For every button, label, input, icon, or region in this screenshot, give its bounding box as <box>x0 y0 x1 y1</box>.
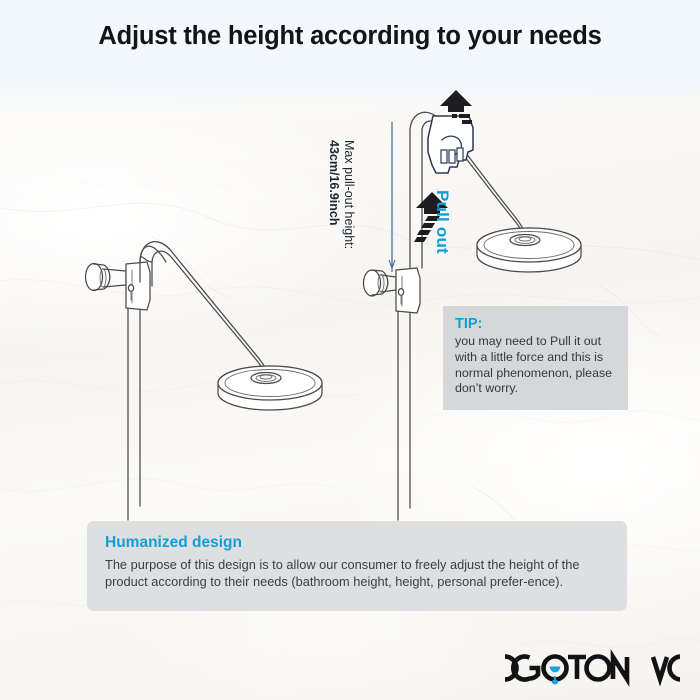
infographic-canvas: Adjust the height according to your need… <box>0 0 700 700</box>
tip-callout: TIP: you may need to Pull it out with a … <box>443 306 628 410</box>
max-pullout-dimension-label: Max pull-out height: 43cm/16.9inch <box>327 140 357 249</box>
tip-body: you may need to Pull it out with a littl… <box>455 334 616 397</box>
humanized-design-heading: Humanized design <box>105 534 609 552</box>
tip-heading: TIP: <box>455 316 616 332</box>
dimension-label-line2: 43cm/16.9inch <box>327 140 342 249</box>
dimension-label-line1: Max pull-out height: <box>341 140 356 249</box>
shower-retracted-group <box>86 242 323 520</box>
hand-grip-icon <box>428 116 473 173</box>
dimension-leader <box>389 122 395 272</box>
pull-out-label: Pull out <box>432 190 452 254</box>
water-drop-mark <box>550 667 561 685</box>
gotonovo-logo <box>505 648 680 688</box>
humanized-design-callout: Humanized design The purpose of this des… <box>87 521 627 611</box>
shower-extended-group <box>364 90 582 520</box>
humanized-design-body: The purpose of this design is to allow o… <box>105 557 609 590</box>
